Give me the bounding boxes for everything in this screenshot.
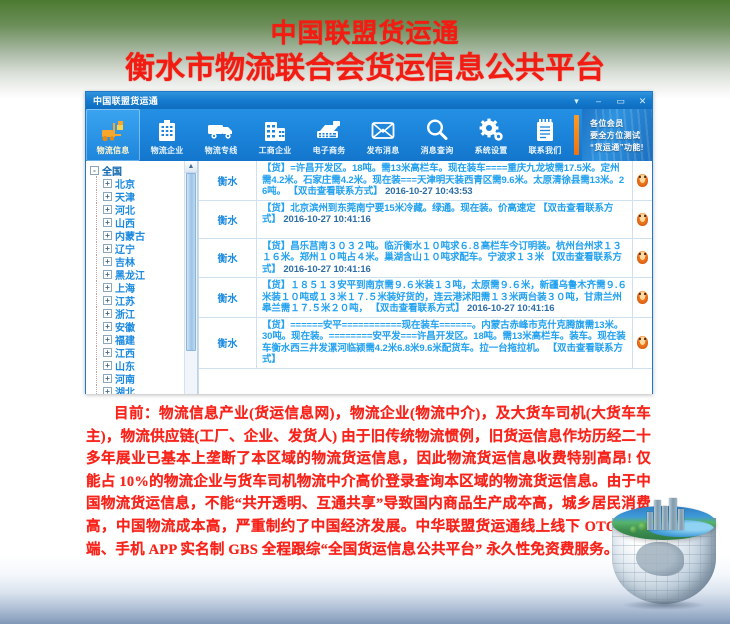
document-icon: [534, 117, 556, 144]
table-row[interactable]: 衡水 【货】=许昌开发区。18吨。需13米高栏车。现在装车====重庆九龙坡需1…: [199, 161, 652, 201]
window-title: 中国联盟货运通: [93, 94, 158, 107]
tree-node-inner-mongolia[interactable]: +内蒙古: [90, 229, 184, 242]
toolbar-label: 系统设置: [475, 145, 508, 156]
region-tree-pane: - 全国 +北京 +天津 +河北 +山西 +内蒙古 +辽宁 +吉林 +黑龙江 +…: [86, 161, 198, 394]
tree-node-nationwide[interactable]: - 全国: [90, 164, 184, 177]
expand-icon[interactable]: +: [103, 231, 112, 240]
row-content: 【货】１８５１３安平到南京需９.６米装１３吨，太原需９.６米，新疆乌鲁木齐需９.…: [257, 278, 632, 317]
forklift-icon: [100, 117, 126, 144]
toolbar-label: 物流专线: [205, 145, 238, 156]
row-message: 【货】１８５１３安平到南京需９.６米装１３吨，太原需９.６米，新疆乌鲁木齐需９.…: [262, 280, 627, 314]
main-toolbar: 物流信息 物流企业: [86, 109, 652, 161]
expand-icon[interactable]: +: [103, 205, 112, 214]
expand-icon[interactable]: +: [103, 179, 112, 188]
region-tree: - 全国 +北京 +天津 +河北 +山西 +内蒙古 +辽宁 +吉林 +黑龙江 +…: [86, 161, 184, 394]
window-titlebar: 中国联盟货运通 ▾ – ▭ ✕: [86, 92, 652, 109]
tree-node-heilongjiang[interactable]: +黑龙江: [90, 268, 184, 281]
row-timestamp: 2016-10-27 10:41:16: [283, 214, 370, 225]
toolbar-label: 发布消息: [367, 145, 400, 156]
tree-node-shanghai[interactable]: +上海: [90, 281, 184, 294]
gear-icon: [478, 117, 504, 144]
tree-node-anhui[interactable]: +安徽: [90, 320, 184, 333]
toolbar-separator: [574, 115, 579, 155]
qq-contact-icon[interactable]: [632, 239, 652, 278]
expand-icon[interactable]: +: [103, 283, 112, 292]
expand-icon[interactable]: +: [103, 361, 112, 370]
page-title-line2: 衡水市物流联合会货运信息公共平台: [0, 50, 730, 88]
qq-contact-icon[interactable]: [632, 318, 652, 368]
table-row[interactable]: 衡水 【货】１８５１３安平到南京需９.６米装１３吨，太原需９.６米，新疆乌鲁木齐…: [199, 278, 652, 318]
toolbar-label: 物流信息: [97, 145, 130, 156]
skyscraper-icon: [669, 498, 677, 530]
row-timestamp: 2016-10-27 10:41:16: [467, 303, 554, 314]
toolbar-item-message-search[interactable]: 消息查询: [410, 109, 464, 161]
globe-illustration: [608, 498, 720, 610]
toolbar-item-logistics-lines[interactable]: 物流专线: [194, 109, 248, 161]
scroll-up-icon[interactable]: ▲: [185, 161, 197, 173]
banner-line-1: 各位会员: [590, 118, 652, 129]
tree-node-shandong[interactable]: +山东: [90, 359, 184, 372]
toolbar-label: 联系我们: [529, 145, 562, 156]
table-row[interactable]: 衡水 【货】北京滨州到东莞南宁要15米冷藏。绿通。现在装。价高速定 【双击查看联…: [199, 201, 652, 239]
globe-shadow: [622, 600, 706, 610]
tree-node-henan[interactable]: +河南: [90, 372, 184, 385]
poster-page: 中国联盟货运通 衡水市物流联合会货运信息公共平台 中国联盟货运通 ▾ – ▭ ✕: [0, 0, 730, 624]
tree-node-beijing[interactable]: +北京: [90, 177, 184, 190]
expand-icon[interactable]: +: [103, 322, 112, 331]
expand-icon[interactable]: +: [103, 309, 112, 318]
building-icon: [156, 117, 178, 144]
tree-node-tianjin[interactable]: +天津: [90, 190, 184, 203]
tree-node-label: 湖北: [115, 384, 135, 394]
toolbar-label: 工商企业: [259, 145, 292, 156]
scrollbar-thumb[interactable]: [186, 173, 196, 351]
toolbar-label: 消息查询: [421, 145, 454, 156]
banner-line-3: “货运通”功能!: [590, 142, 652, 153]
expand-icon[interactable]: +: [103, 374, 112, 383]
expand-icon[interactable]: +: [103, 335, 112, 344]
tree-node-hebei[interactable]: +河北: [90, 203, 184, 216]
toolbar-item-contact-us[interactable]: 联系我们: [518, 109, 572, 161]
tree-node-zhejiang[interactable]: +浙江: [90, 307, 184, 320]
skyscraper-icon: [647, 512, 653, 530]
skyscraper-icon: [654, 500, 661, 530]
row-timestamp: 2016-10-27 10:43:53: [385, 186, 472, 197]
magnifier-icon: [425, 117, 449, 144]
table-row[interactable]: 衡水 【货】======安平===========现在装车======。内蒙古赤…: [199, 318, 652, 369]
row-message: 【货】======安平===========现在装车======。内蒙古赤峰市克…: [262, 320, 626, 366]
banner-line-2: 要全方位测试: [590, 130, 652, 141]
expand-icon[interactable]: +: [103, 218, 112, 227]
toolbar-item-ecommerce[interactable]: 电子商务: [302, 109, 356, 161]
row-content: 【货】=许昌开发区。18吨。需13米高栏车。现在装车====重庆九龙坡需17.5…: [257, 161, 632, 200]
member-notice-banner: 各位会员 要全方位测试 “货运通”功能!: [582, 109, 652, 161]
row-city: 衡水: [199, 278, 257, 317]
qq-contact-icon[interactable]: [632, 278, 652, 317]
tree-scrollbar[interactable]: ▲: [184, 161, 197, 394]
minimize-icon[interactable]: –: [592, 95, 605, 107]
expand-icon[interactable]: +: [103, 296, 112, 305]
description-paragraph: 目前：物流信息产业(货运信息网)，物流企业(物流中介)，及大货车司机(大货车车主…: [86, 403, 651, 561]
tree-node-jiangsu[interactable]: +江苏: [90, 294, 184, 307]
collapse-icon[interactable]: -: [90, 166, 99, 175]
office-building-icon: [263, 117, 287, 144]
row-timestamp: 2016-10-27 10:41:16: [283, 264, 370, 275]
row-city: 衡水: [199, 318, 257, 368]
envelope-icon: [370, 117, 396, 144]
toolbar-label: 电子商务: [313, 145, 346, 156]
qq-contact-icon[interactable]: [632, 201, 652, 238]
tree-node-hubei[interactable]: +湖北: [90, 385, 184, 394]
tree-node-liaoning[interactable]: +辽宁: [90, 242, 184, 255]
expand-icon[interactable]: +: [103, 244, 112, 253]
window-body: - 全国 +北京 +天津 +河北 +山西 +内蒙古 +辽宁 +吉林 +黑龙江 +…: [86, 161, 652, 394]
expand-icon[interactable]: +: [103, 348, 112, 357]
expand-icon[interactable]: +: [103, 387, 112, 394]
row-city: 衡水: [199, 161, 257, 200]
page-title-line1: 中国联盟货运通: [0, 0, 730, 50]
toolbar-item-publish-message[interactable]: 发布消息: [356, 109, 410, 161]
tree-node-fujian[interactable]: +福建: [90, 333, 184, 346]
toolbar-item-industrial-companies[interactable]: 工商企业: [248, 109, 302, 161]
toolbar-label: 物流企业: [151, 145, 184, 156]
toolbar-item-logistics-companies[interactable]: 物流企业: [140, 109, 194, 161]
menu-icon[interactable]: ▾: [570, 95, 583, 107]
application-window: 中国联盟货运通 ▾ – ▭ ✕: [85, 91, 653, 394]
row-city: 衡水: [199, 239, 257, 278]
window-controls: ▾ – ▭ ✕: [570, 92, 649, 109]
truck-icon: [207, 117, 235, 144]
qq-contact-icon[interactable]: [632, 161, 652, 200]
row-content: 【货】北京滨州到东莞南宁要15米冷藏。绿通。现在装。价高速定 【双击查看联系方式…: [257, 201, 632, 238]
row-content: 【货】======安平===========现在装车======。内蒙古赤峰市克…: [257, 318, 632, 368]
close-icon[interactable]: ✕: [636, 95, 649, 107]
tree-icon: [630, 526, 637, 533]
skyscraper-icon: [678, 509, 684, 530]
maximize-icon[interactable]: ▭: [614, 95, 627, 107]
tree-node-jiangxi[interactable]: +江西: [90, 346, 184, 359]
expand-icon[interactable]: +: [103, 270, 112, 279]
row-content: 【货】昌乐莒南３０３２吨。临沂衡水１０吨求６.８高栏车今订明装。杭州台州求１３１…: [257, 239, 632, 278]
cash-register-icon: [315, 117, 343, 144]
toolbar-item-logistics-info[interactable]: 物流信息: [86, 109, 140, 161]
freight-list-pane: 衡水 【货】=许昌开发区。18吨。需13米高栏车。现在装车====重庆九龙坡需1…: [198, 161, 652, 394]
tree-icon: [638, 522, 647, 531]
table-row[interactable]: 衡水 【货】昌乐莒南３０３２吨。临沂衡水１０吨求６.８高栏车今订明装。杭州台州求…: [199, 239, 652, 279]
skyscraper-icon: [662, 506, 668, 530]
expand-icon[interactable]: +: [103, 192, 112, 201]
expand-icon[interactable]: +: [103, 257, 112, 266]
toolbar-item-system-settings[interactable]: 系统设置: [464, 109, 518, 161]
freight-rows: 衡水 【货】=许昌开发区。18吨。需13米高栏车。现在装车====重庆九龙坡需1…: [199, 161, 652, 394]
row-city: 衡水: [199, 201, 257, 238]
